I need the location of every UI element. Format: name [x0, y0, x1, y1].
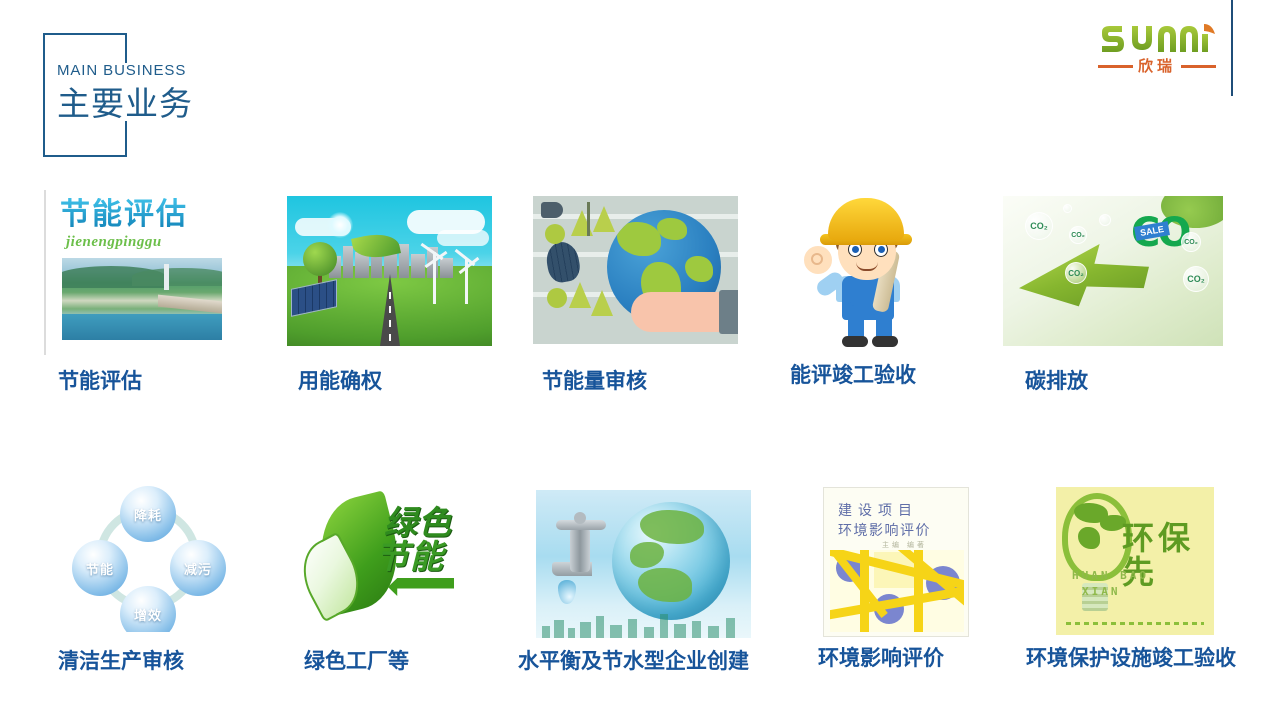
business-card-9[interactable]: 建设项目 环境影响评价 主编 编著 环境影响评价	[823, 487, 969, 637]
sunri-wordmark-icon	[1098, 22, 1216, 56]
card-label-6: 清洁生产审核	[58, 648, 184, 674]
sleeve-cuff	[719, 290, 738, 334]
thumb-green-energy-city-illustration	[287, 196, 492, 346]
business-card-6[interactable]: 降耗 节能 减污 增效 清洁生产审核	[58, 482, 248, 632]
card-label-3: 节能量审核	[542, 368, 647, 394]
photo-bridge-span	[158, 295, 222, 314]
worker-shoe	[872, 336, 898, 347]
business-card-2[interactable]: 用能确权	[287, 196, 492, 346]
solar-dish-icon	[544, 240, 582, 285]
book-title-line2: 环境影响评价	[838, 520, 931, 540]
faucet-body	[570, 528, 590, 572]
poster-pinyin-line1: HUAN BAO	[1072, 569, 1149, 582]
thumb-green-leaf-logo: 绿色 节能	[300, 482, 486, 632]
card-label-7: 绿色工厂等	[304, 648, 409, 674]
card-label-8: 水平衡及节水型企业创建	[518, 648, 749, 674]
card-label-4: 能评竣工验收	[790, 362, 916, 388]
small-bubble-icon	[1063, 204, 1072, 213]
card-label-10: 环境保护设施竣工验收	[1026, 645, 1236, 671]
thumb-green-arrow-co2-bubbles: CO SALE CO₂ CO₂ CO₂ CO₂ CO₂	[1003, 196, 1223, 346]
book-title-line1: 建设项目	[838, 500, 918, 520]
card-label-1: 节能评估	[58, 368, 142, 394]
title-frame-right-border-upper	[125, 33, 127, 63]
business-card-8[interactable]: 水平衡及节水型企业创建	[536, 490, 751, 638]
poster-pinyin-text: jienengpinggu	[66, 234, 162, 251]
business-card-4[interactable]: 能评竣工验收	[790, 190, 950, 350]
worker-ok-gesture-hole	[811, 253, 823, 265]
sun-icon	[327, 212, 353, 238]
co2-bubble-icon: CO₂	[1025, 212, 1053, 240]
logo-chinese-name: 欣瑞	[1138, 58, 1176, 74]
title-frame-left-border	[43, 33, 45, 157]
card-label-5: 碳排放	[1025, 368, 1088, 394]
thumb-construction-worker-cartoon	[790, 190, 950, 350]
road-center-line	[389, 292, 391, 346]
worker-shoe	[842, 336, 868, 347]
poster-title-text: 节能评估	[60, 198, 188, 232]
photo-hill-right	[132, 268, 222, 286]
fir-tree-icon	[593, 206, 615, 232]
city-skyline-silhouette	[536, 612, 751, 638]
thumb-eco-bulb-poster: 环保先 HUAN BAO XIAN	[1056, 487, 1214, 635]
co2-bubble-icon: CO₂	[1069, 226, 1087, 244]
logo-subtitle: 欣瑞	[1098, 56, 1216, 76]
book-cover-artwork	[830, 550, 964, 632]
faucet-knob	[574, 512, 586, 524]
thumb-eia-book-cover: 建设项目 环境影响评价 主编 编著	[823, 487, 969, 637]
small-bubble-icon	[1099, 214, 1111, 226]
green-arrow-icon	[1019, 244, 1149, 320]
photo-tower	[164, 264, 169, 290]
business-card-5[interactable]: CO SALE CO₂ CO₂ CO₂ CO₂ CO₂ 碳排放	[1003, 196, 1223, 346]
leaf-logo-line1: 绿色	[384, 506, 452, 540]
photo-water	[62, 314, 222, 340]
bush-icon	[547, 288, 567, 308]
poster-pinyin-line2: XIAN	[1082, 585, 1121, 598]
factory-cap	[541, 202, 563, 218]
leaf-logo-line2: 节能	[376, 540, 444, 574]
business-card-1[interactable]: 节能评估 jienengpinggu 节能评估	[44, 190, 239, 355]
water-globe-icon	[612, 502, 730, 620]
book-author-line: 主编 编著	[882, 540, 927, 550]
business-card-10[interactable]: 环保先 HUAN BAO XIAN 环境保护设施竣工验收	[1056, 487, 1214, 635]
title-frame-bottom-border	[43, 155, 127, 157]
bush-icon	[545, 224, 565, 244]
company-logo: 欣瑞	[1098, 22, 1216, 78]
thumb-energy-saving-assessment-poster: 节能评估 jienengpinggu	[44, 190, 239, 355]
slide-canvas: MAIN BUSINESS 主要业务 欣瑞 节能评估	[0, 0, 1280, 720]
co2-bubble-icon: CO₂	[1065, 262, 1087, 284]
water-drop-icon	[558, 580, 576, 604]
recycle-arrow-icon	[388, 578, 454, 596]
worker-pupil	[878, 246, 885, 253]
logo-rule-left	[1098, 65, 1133, 68]
logo-rule-right	[1181, 65, 1216, 68]
business-card-7[interactable]: 绿色 节能 绿色工厂等	[300, 482, 486, 632]
poster-left-rule	[44, 190, 46, 355]
pole	[587, 202, 590, 236]
thumb-hand-holding-earth-illustration	[533, 196, 738, 344]
co2-bubble-icon: CO₂	[1181, 232, 1201, 252]
tree-icon	[303, 242, 337, 276]
poster-landscape-photo	[62, 258, 222, 340]
page-title-english: MAIN BUSINESS	[57, 62, 193, 80]
node-right: 减污	[170, 540, 226, 596]
fir-tree-icon	[569, 282, 591, 308]
node-top: 降耗	[120, 486, 176, 542]
title-frame-top-border	[43, 33, 127, 35]
thumb-four-node-diagram: 降耗 节能 减污 增效	[58, 482, 248, 632]
header-divider-line	[1231, 0, 1233, 96]
hard-hat-icon	[828, 198, 904, 240]
fir-tree-icon	[591, 290, 613, 316]
page-title: MAIN BUSINESS 主要业务	[57, 62, 193, 126]
worker-pupil	[852, 246, 859, 253]
business-card-3[interactable]: 节能量审核	[533, 196, 738, 344]
poster-bottom-rule	[1066, 622, 1204, 625]
card-label-9: 环境影响评价	[818, 645, 944, 671]
title-frame-right-border-lower	[125, 121, 127, 157]
page-title-chinese: 主要业务	[57, 82, 193, 126]
co2-bubble-icon: CO₂	[1183, 266, 1209, 292]
card-label-2: 用能确权	[298, 368, 382, 394]
thumb-faucet-water-globe	[536, 490, 751, 638]
node-left: 节能	[72, 540, 128, 596]
